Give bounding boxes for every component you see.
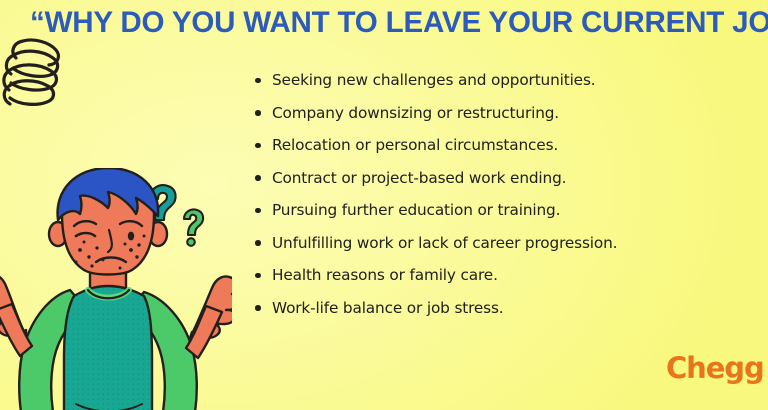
list-item: Pursuing further education or training. [252, 194, 752, 227]
reasons-list: Seeking new challenges and opportunities… [252, 64, 752, 324]
spiral-doodle-icon [0, 30, 80, 110]
list-item: Contract or project-based work ending. [252, 162, 752, 195]
bullet-dot-icon [255, 273, 261, 279]
bullet-dot-icon [255, 110, 261, 116]
list-item: Seeking new challenges and opportunities… [252, 64, 752, 97]
bullet-dot-icon [255, 208, 261, 214]
list-item-label: Pursuing further education or training. [272, 201, 560, 219]
list-item: Company downsizing or restructuring. [252, 97, 752, 130]
list-item: Work-life balance or job stress. [252, 292, 752, 325]
list-item-label: Company downsizing or restructuring. [272, 104, 559, 122]
bullet-dot-icon [255, 305, 261, 311]
illustration-confused-person [0, 168, 232, 410]
list-item-label: Unfulfilling work or lack of career prog… [272, 234, 617, 252]
bullet-dot-icon [255, 175, 261, 181]
list-item-label: Relocation or personal circumstances. [272, 136, 558, 154]
list-item-label: Contract or project-based work ending. [272, 169, 566, 187]
bullet-dot-icon [255, 143, 261, 149]
chegg-logo: Chegg [666, 353, 764, 383]
poster-canvas: “WHY DO YOU WANT TO LEAVE YOUR CURRENT J… [0, 0, 768, 410]
list-item: Unfulfilling work or lack of career prog… [252, 227, 752, 260]
list-item-label: Work-life balance or job stress. [272, 299, 504, 317]
list-item-label: Seeking new challenges and opportunities… [272, 71, 595, 89]
list-item: Relocation or personal circumstances. [252, 129, 752, 162]
bullet-dot-icon [255, 78, 261, 84]
list-item-label: Health reasons or family care. [272, 266, 498, 284]
list-item: Health reasons or family care. [252, 259, 752, 292]
poster-title: “WHY DO YOU WANT TO LEAVE YOUR CURRENT J… [30, 6, 739, 40]
bullet-dot-icon [255, 240, 261, 246]
